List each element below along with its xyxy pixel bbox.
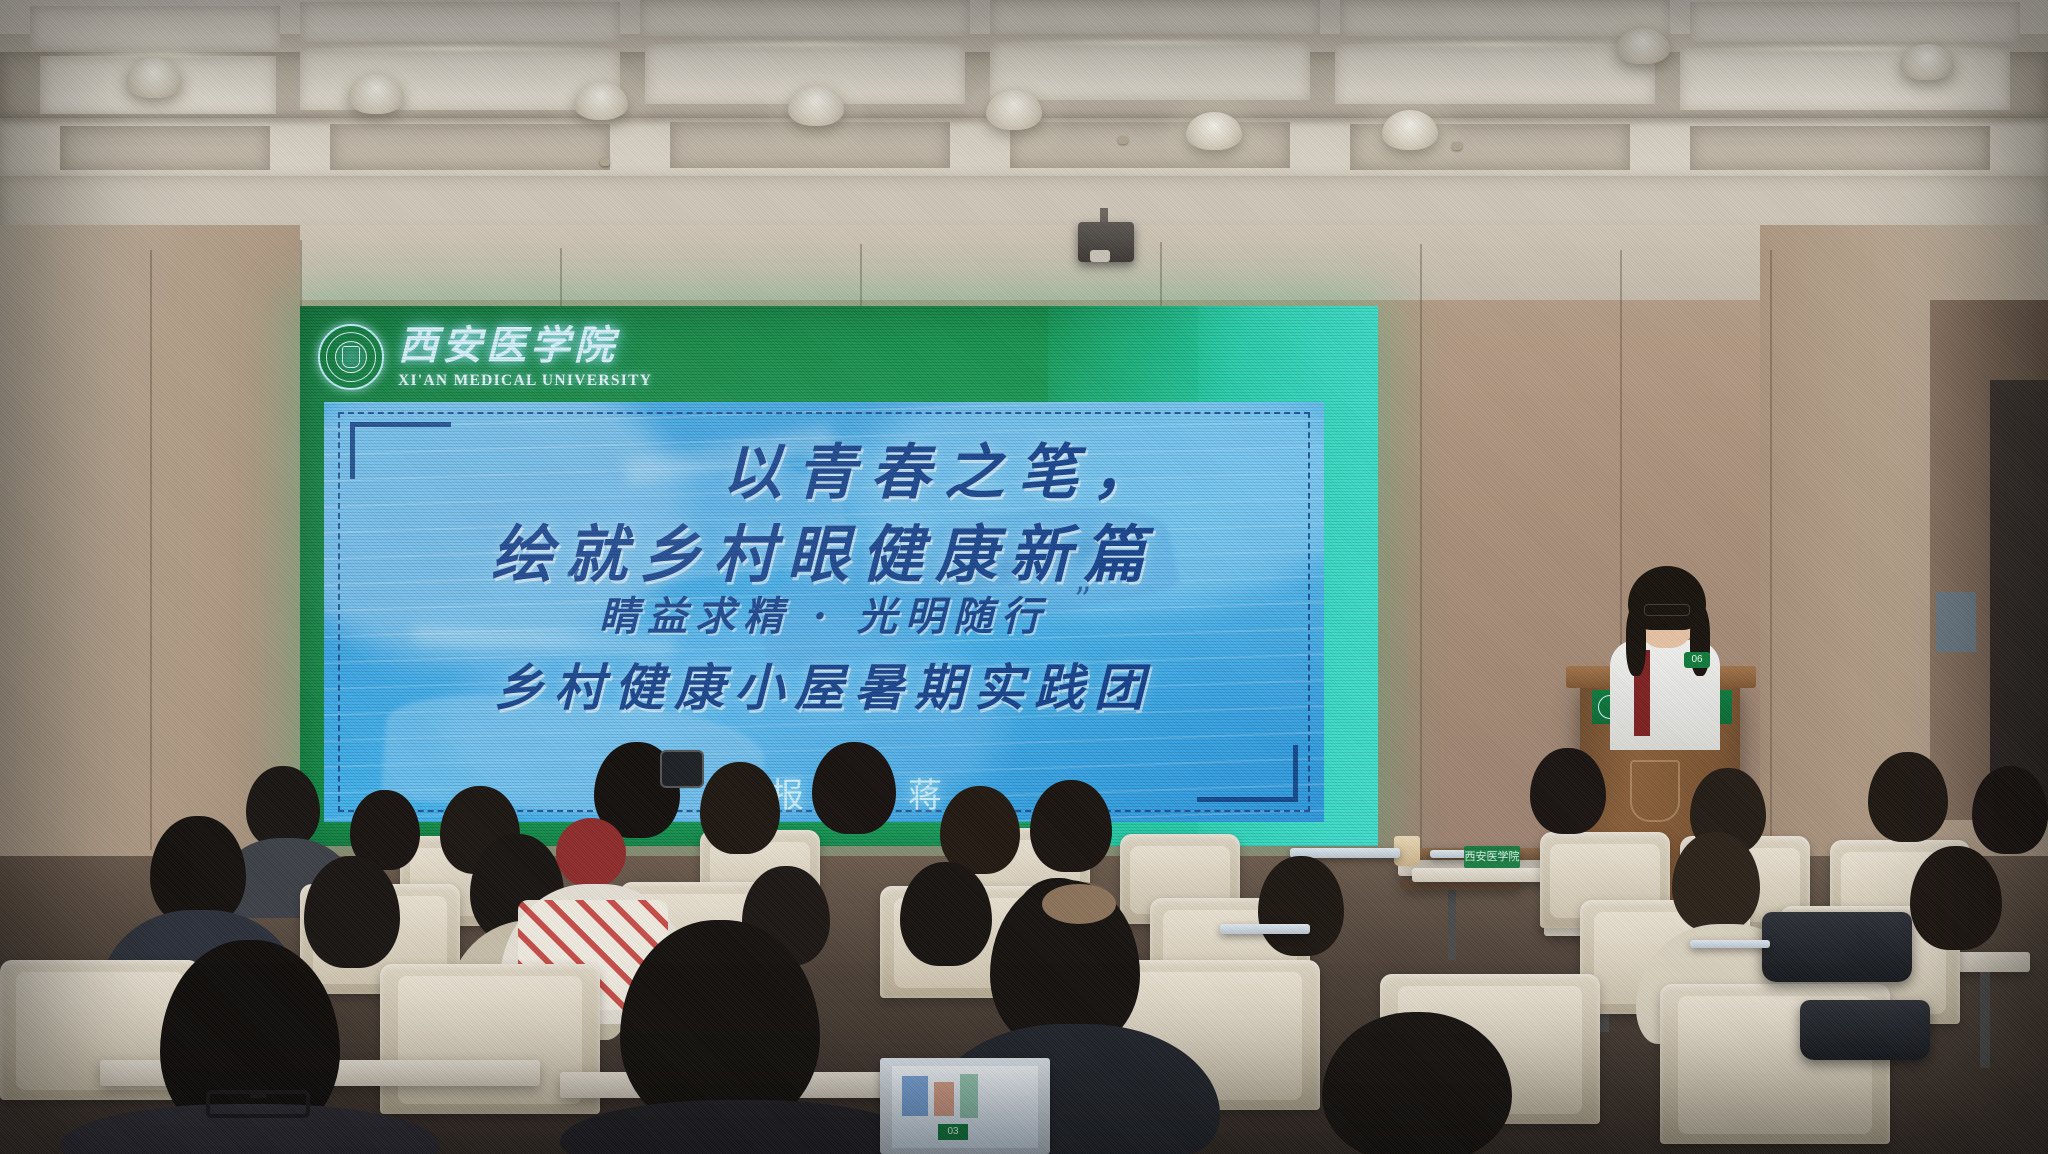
recessed-downlight xyxy=(1616,28,1670,64)
ceiling-coffer xyxy=(990,42,1310,100)
auditorium-scene: 西安医学院 XI'AN MEDICAL UNIVERSITY 以青春之笔， 绘就… xyxy=(0,0,2048,1154)
speaker-glasses-icon xyxy=(1644,604,1690,616)
audience-head xyxy=(812,742,896,834)
backpack[interactable] xyxy=(1800,1000,1930,1060)
sprinkler xyxy=(1452,142,1462,150)
recessed-downlight xyxy=(986,90,1042,130)
recessed-downlight xyxy=(574,82,628,120)
cove-strip-light xyxy=(1340,42,1650,47)
audience-head xyxy=(900,862,992,966)
cove-strip-light xyxy=(304,46,614,51)
university-brand-lockup: 西安医学院 XI'AN MEDICAL UNIVERSITY xyxy=(318,324,652,390)
wall-panel-seam xyxy=(150,250,152,850)
laptop-content-block xyxy=(934,1082,954,1116)
wall-glass-panel xyxy=(1936,592,1976,652)
wall-panel-seam xyxy=(860,244,862,314)
recessed-downlight xyxy=(348,74,404,114)
recessed-downlight xyxy=(788,86,844,126)
ceiling-coffer xyxy=(670,122,950,168)
notebook[interactable] xyxy=(1690,940,1770,948)
ceiling-coffer xyxy=(1340,0,1670,36)
ceiling-coffer xyxy=(300,2,620,42)
wall-panel-seam xyxy=(1770,250,1772,850)
cove-strip-light xyxy=(650,42,960,47)
slide-subtitle: 睛益求精 · 光明随行 xyxy=(324,584,1324,642)
recessed-downlight xyxy=(126,58,182,98)
wall-panel-seam xyxy=(1420,244,1422,864)
audience-head xyxy=(304,856,400,968)
raised-phone xyxy=(662,752,702,786)
university-seal-icon xyxy=(318,324,384,390)
laptop-screen[interactable]: 03 xyxy=(892,1066,1038,1148)
laptop-content-block xyxy=(902,1076,928,1116)
university-name-en: XI'AN MEDICAL UNIVERSITY xyxy=(398,373,652,389)
audience-knit-hat xyxy=(556,818,626,888)
ceiling-coffer xyxy=(640,0,970,36)
ceiling-coffer xyxy=(990,0,1320,34)
sprinkler xyxy=(600,158,610,166)
recessed-downlight xyxy=(1382,110,1438,150)
eyeglasses-bridge-icon xyxy=(250,1094,266,1098)
audience-head xyxy=(1258,856,1344,956)
audience-hair-tie xyxy=(1042,884,1116,924)
ceiling-coffer xyxy=(1690,126,1990,170)
wall-opening xyxy=(1990,380,2048,820)
cove-strip-light xyxy=(44,52,274,57)
sprinkler xyxy=(1118,136,1128,144)
laptop-content-block xyxy=(960,1074,978,1118)
audience-head xyxy=(1030,780,1112,872)
slide-team-line: 乡村健康小屋暑期实践团 xyxy=(324,648,1324,720)
cove-strip-light xyxy=(1685,46,2005,51)
audience-head xyxy=(1972,766,2048,854)
projector-lens-icon xyxy=(1090,250,1110,262)
cove-strip-light xyxy=(995,40,1305,45)
university-name-cn: 西安医学院 xyxy=(398,326,652,366)
ceiling-coffer xyxy=(1680,48,2010,110)
table-name-card: 西安医学院 xyxy=(1464,846,1520,868)
notebook[interactable] xyxy=(1220,924,1310,934)
slide-title-line2: 绘就乡村眼健康新篇 xyxy=(324,504,1324,594)
ceiling-coffer xyxy=(30,6,280,50)
audience-head xyxy=(700,762,780,854)
laptop-badge: 03 xyxy=(938,1124,968,1140)
speaker-hair-side xyxy=(1626,606,1646,676)
podium-emblem-icon xyxy=(1630,760,1680,822)
ceiling-coffer xyxy=(60,126,270,170)
audience-head xyxy=(1672,832,1760,932)
slide-title-line1: 以青春之笔， xyxy=(324,424,1324,511)
ceiling-coffer xyxy=(1010,122,1290,168)
seal-core-icon xyxy=(342,346,360,368)
ceiling-coffer xyxy=(1335,44,1655,104)
handbag[interactable] xyxy=(1762,912,1912,982)
recessed-downlight xyxy=(1900,44,1954,80)
audience-head-foreground xyxy=(620,920,820,1130)
audience-head xyxy=(1910,846,2002,950)
recessed-downlight xyxy=(1186,112,1242,150)
ceiling-coffer xyxy=(330,124,610,170)
audience-head xyxy=(246,766,320,848)
desk-leg xyxy=(1980,972,1990,1068)
ceiling-coffer xyxy=(1690,2,2020,42)
audience-head xyxy=(940,786,1020,874)
speaker-badge: 06 xyxy=(1684,652,1710,668)
wall-panel-seam xyxy=(1160,242,1162,310)
audience-head xyxy=(1868,752,1948,842)
audience-head xyxy=(1530,748,1606,834)
